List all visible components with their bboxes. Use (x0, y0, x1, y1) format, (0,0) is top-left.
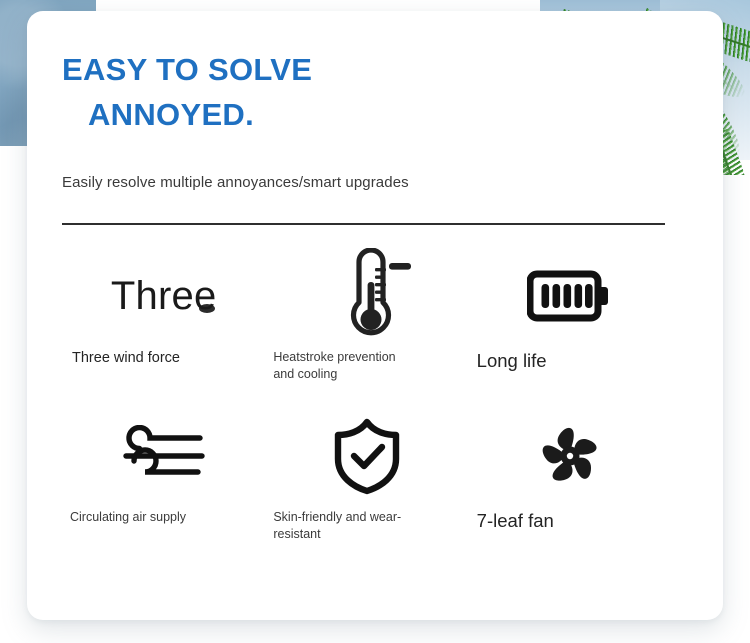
feature-item: Circulating air supply (62, 403, 265, 563)
feature-icon-slot: Three (62, 243, 265, 349)
header-divider (62, 223, 665, 225)
page-subtitle: Easily resolve multiple annoyances/smart… (62, 174, 409, 191)
feature-icon-slot (469, 403, 672, 509)
feature-caption: Long life (477, 349, 652, 373)
feature-caption: Skin-friendly and wear-resistant (273, 509, 408, 542)
ink-blot-artifact (199, 304, 215, 313)
wind-icon (116, 425, 212, 487)
feature-grid: Three Three wind force (62, 243, 672, 563)
page-root: ...res EASY TO SOLVE ANNOYED. Easily res… (0, 0, 750, 643)
feature-item: Three Three wind force (62, 243, 265, 403)
content-card: EASY TO SOLVE ANNOYED. Easily resolve mu… (27, 11, 723, 620)
page-title-line-1: EASY TO SOLVE (62, 47, 582, 92)
thermometer-icon (321, 248, 413, 344)
feature-item: 7-leaf fan (469, 403, 672, 563)
feature-icon-slot (62, 403, 265, 509)
page-title-line-2: ANNOYED. (62, 92, 582, 137)
feature-caption: Circulating air supply (70, 509, 205, 526)
feature-item: Heatstroke prevention and cooling (265, 243, 468, 403)
page-title: EASY TO SOLVE ANNOYED. (62, 47, 582, 137)
feature-item: Skin-friendly and wear-resistant (265, 403, 468, 563)
feature-caption: Three wind force (72, 349, 212, 368)
shield-check-icon (331, 416, 403, 496)
feature-icon-slot (469, 243, 672, 349)
fan-blade-icon (532, 418, 608, 494)
feature-icon-slot (265, 403, 468, 509)
three-word-icon: Three (111, 276, 217, 316)
feature-caption: 7-leaf fan (477, 509, 652, 533)
battery-icon (527, 268, 613, 324)
feature-item: Long life (469, 243, 672, 403)
feature-caption: Heatstroke prevention and cooling (273, 349, 408, 382)
feature-icon-slot (265, 243, 468, 349)
